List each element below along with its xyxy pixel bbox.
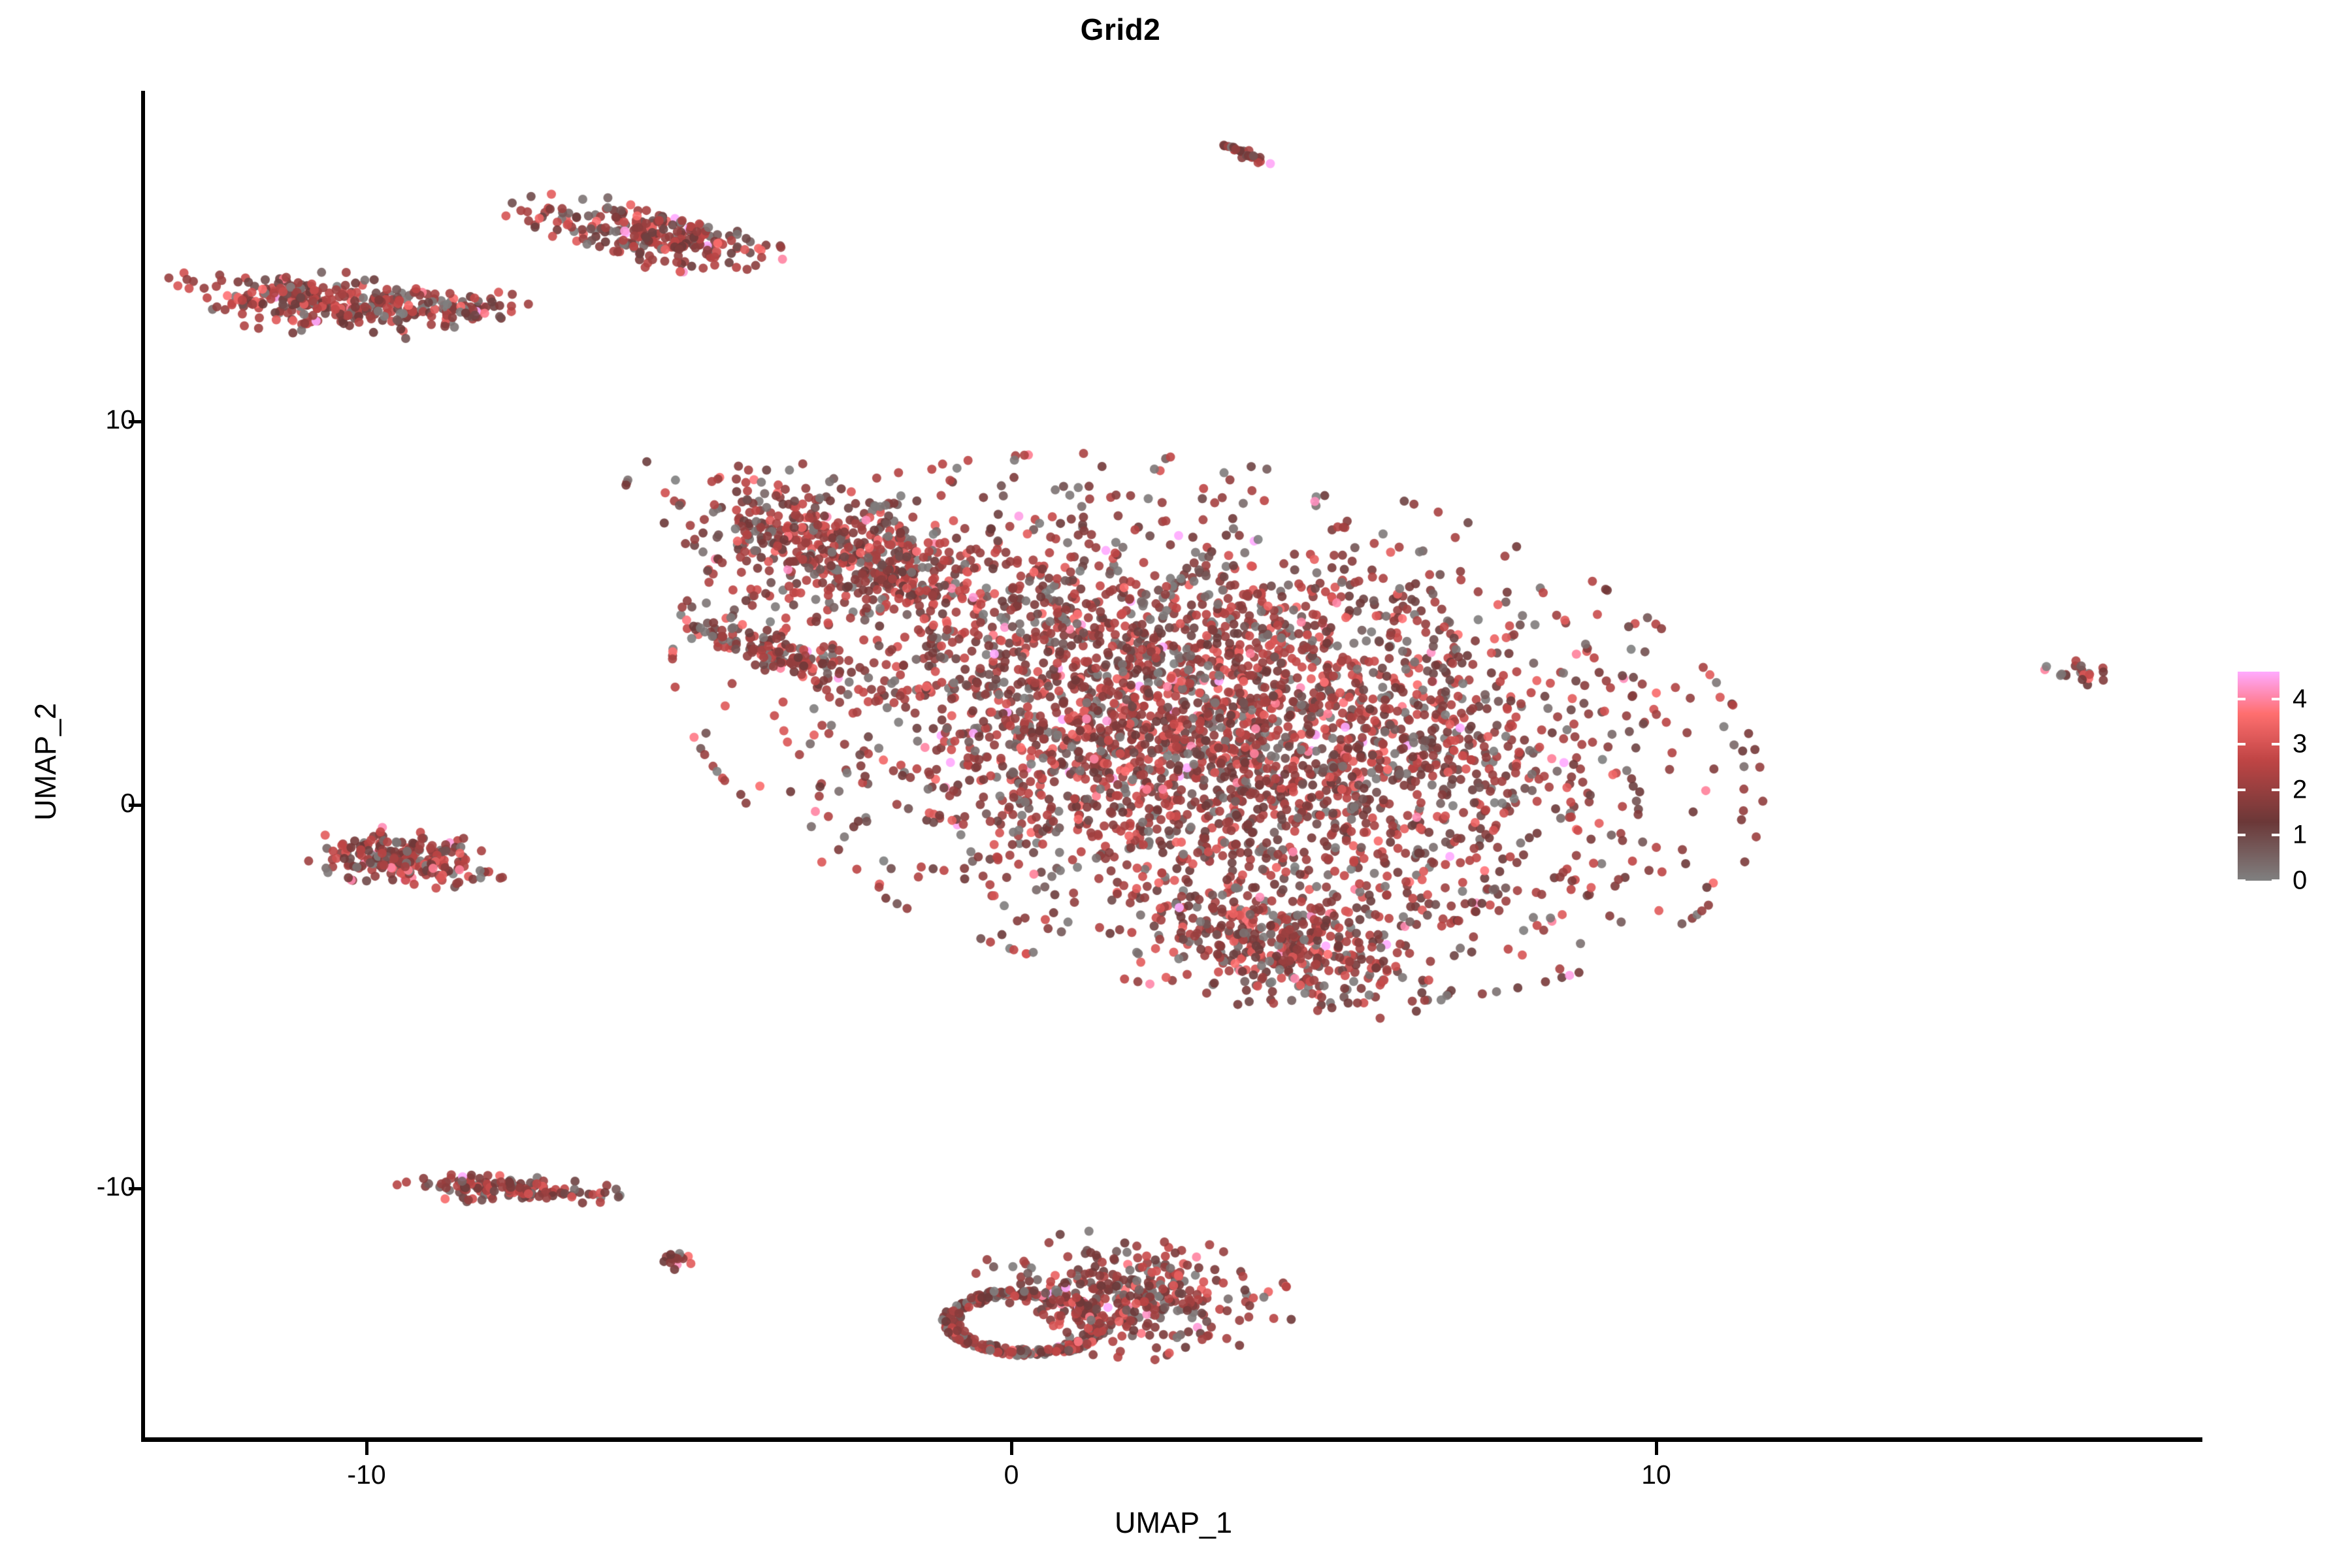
x-tick-label: -10 [347, 1460, 385, 1490]
legend-tick-mark [2272, 879, 2279, 882]
legend-tick-mark [2238, 698, 2246, 700]
legend-tick-mark [2272, 743, 2279, 745]
chart-root: Grid2 -10010 -10010 UMAP_1 UMAP_2 01234 [0, 0, 2352, 1568]
legend-tick-label: 4 [2293, 684, 2307, 713]
scatter-points-layer [144, 91, 2202, 1439]
x-tick-label: 10 [1641, 1460, 1671, 1490]
x-tick-mark [365, 1442, 368, 1455]
y-axis-line [141, 91, 145, 1442]
legend-tick-label: 0 [2293, 866, 2307, 896]
legend-tick-label: 3 [2293, 730, 2307, 759]
legend-tick-mark [2272, 789, 2279, 791]
x-tick-label: 0 [1004, 1460, 1019, 1490]
legend-tick-label: 2 [2293, 775, 2307, 804]
legend-colorbar [2238, 672, 2279, 881]
legend: 01234 [2238, 666, 2342, 889]
x-tick-mark [1010, 1442, 1013, 1455]
legend-tick-mark [2238, 789, 2246, 791]
legend-tick-label: 1 [2293, 821, 2307, 850]
legend-tick-mark [2272, 834, 2279, 836]
x-axis-title: UMAP_1 [144, 1506, 2202, 1540]
legend-tick-mark [2238, 879, 2246, 882]
y-tick-label: -10 [97, 1171, 135, 1202]
y-tick-label: 10 [105, 404, 135, 435]
y-axis-title: UMAP_2 [29, 435, 63, 1088]
page-title: Grid2 [0, 12, 2241, 47]
plot-panel [144, 91, 2202, 1439]
legend-tick-mark [2238, 834, 2246, 836]
legend-tick-mark [2238, 743, 2246, 745]
y-tick-label: 0 [120, 788, 135, 819]
legend-tick-mark [2272, 698, 2279, 700]
x-tick-mark [1655, 1442, 1658, 1455]
x-axis-line [141, 1437, 2202, 1442]
